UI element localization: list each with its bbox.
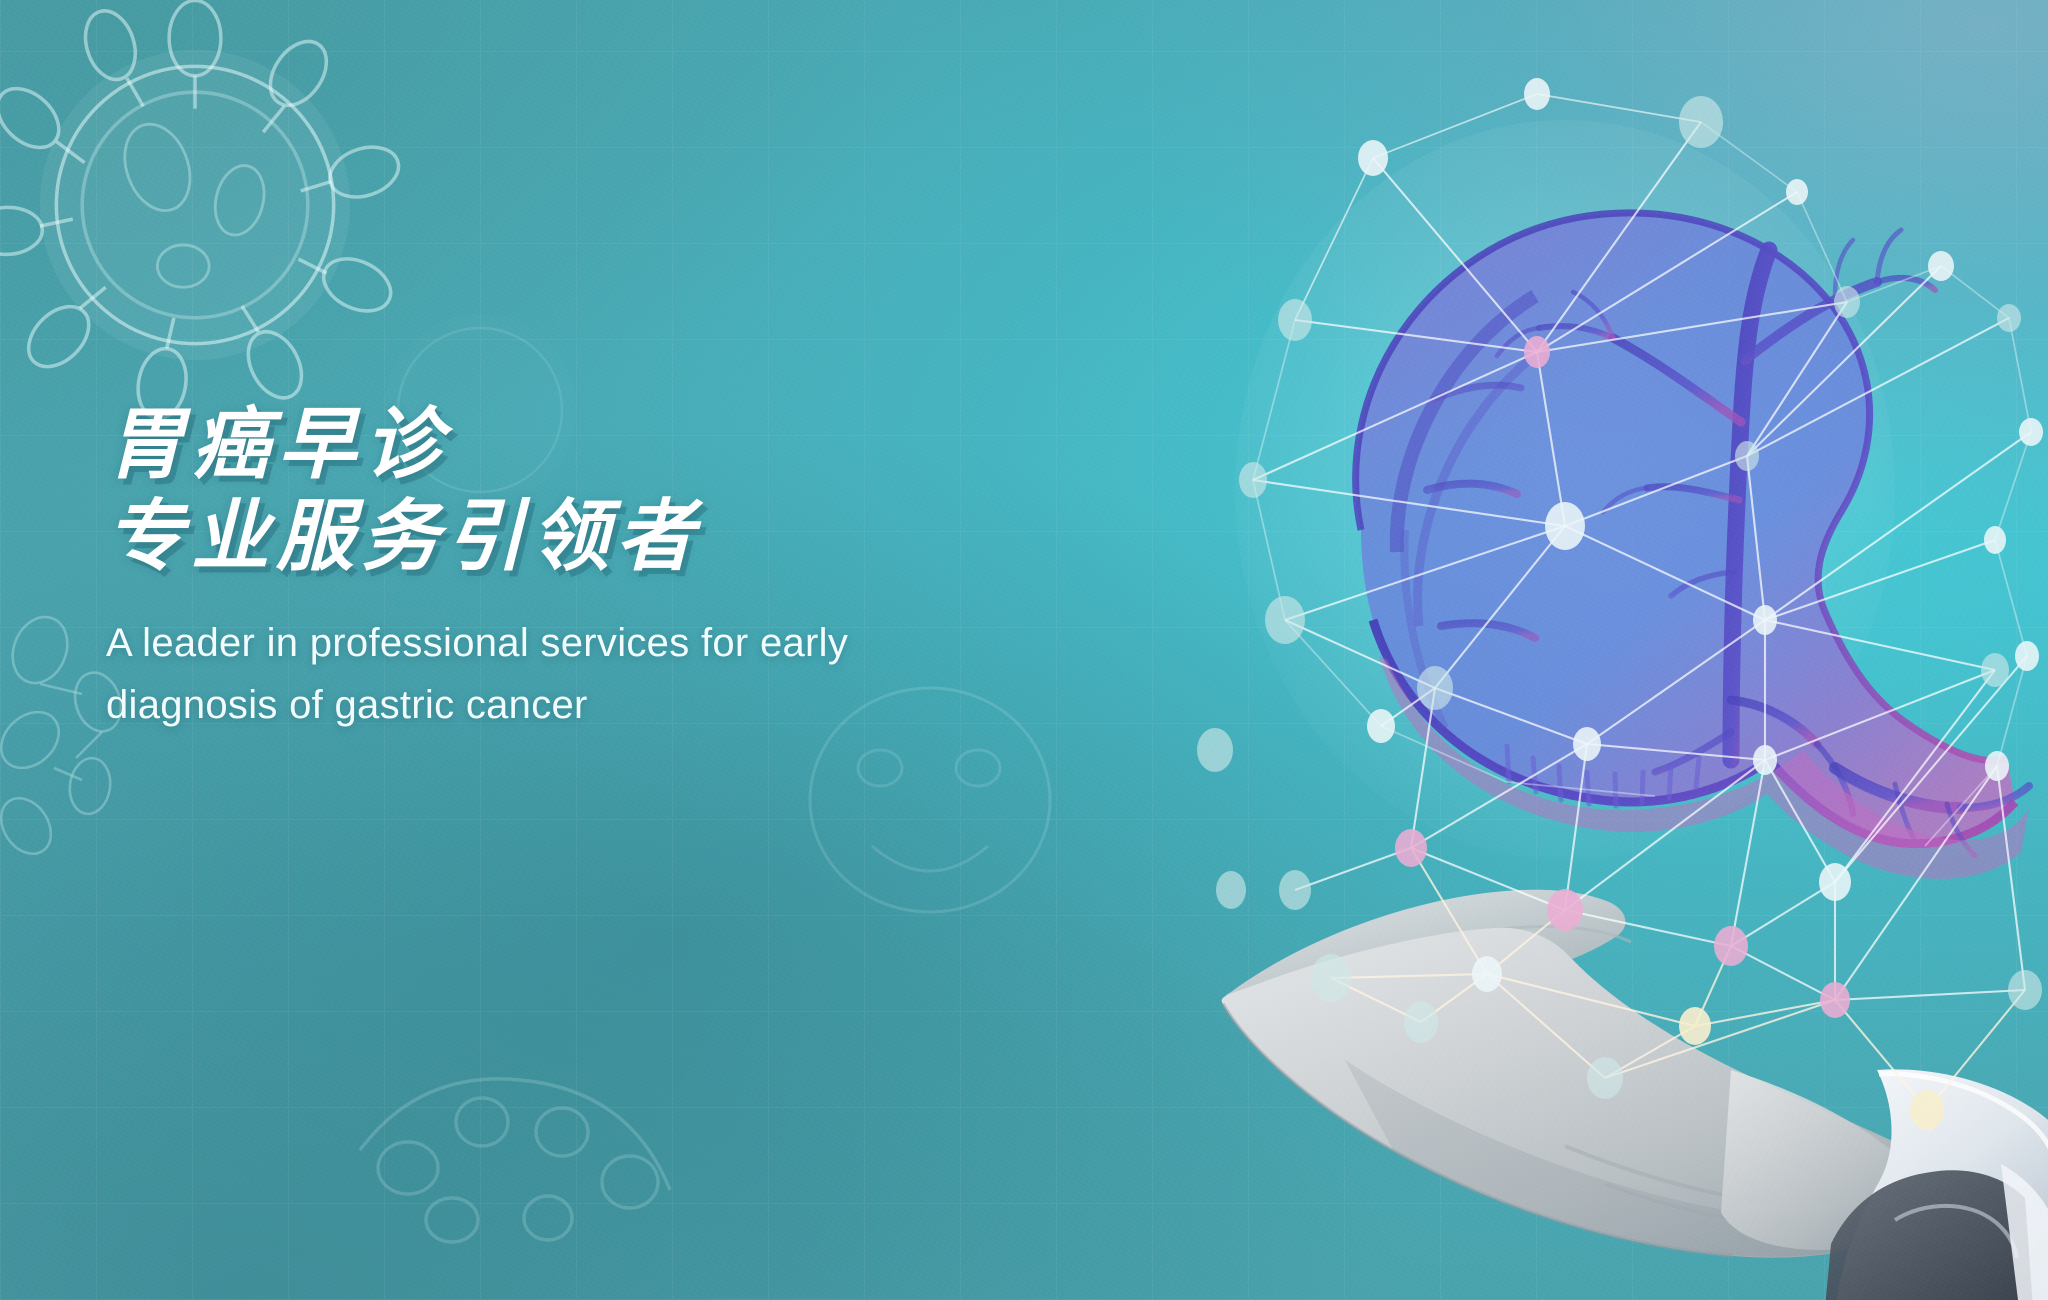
image-grain-overlay xyxy=(0,0,2048,1300)
banner-root: 胃癌早诊 专业服务引领者 A leader in professional se… xyxy=(0,0,2048,1300)
